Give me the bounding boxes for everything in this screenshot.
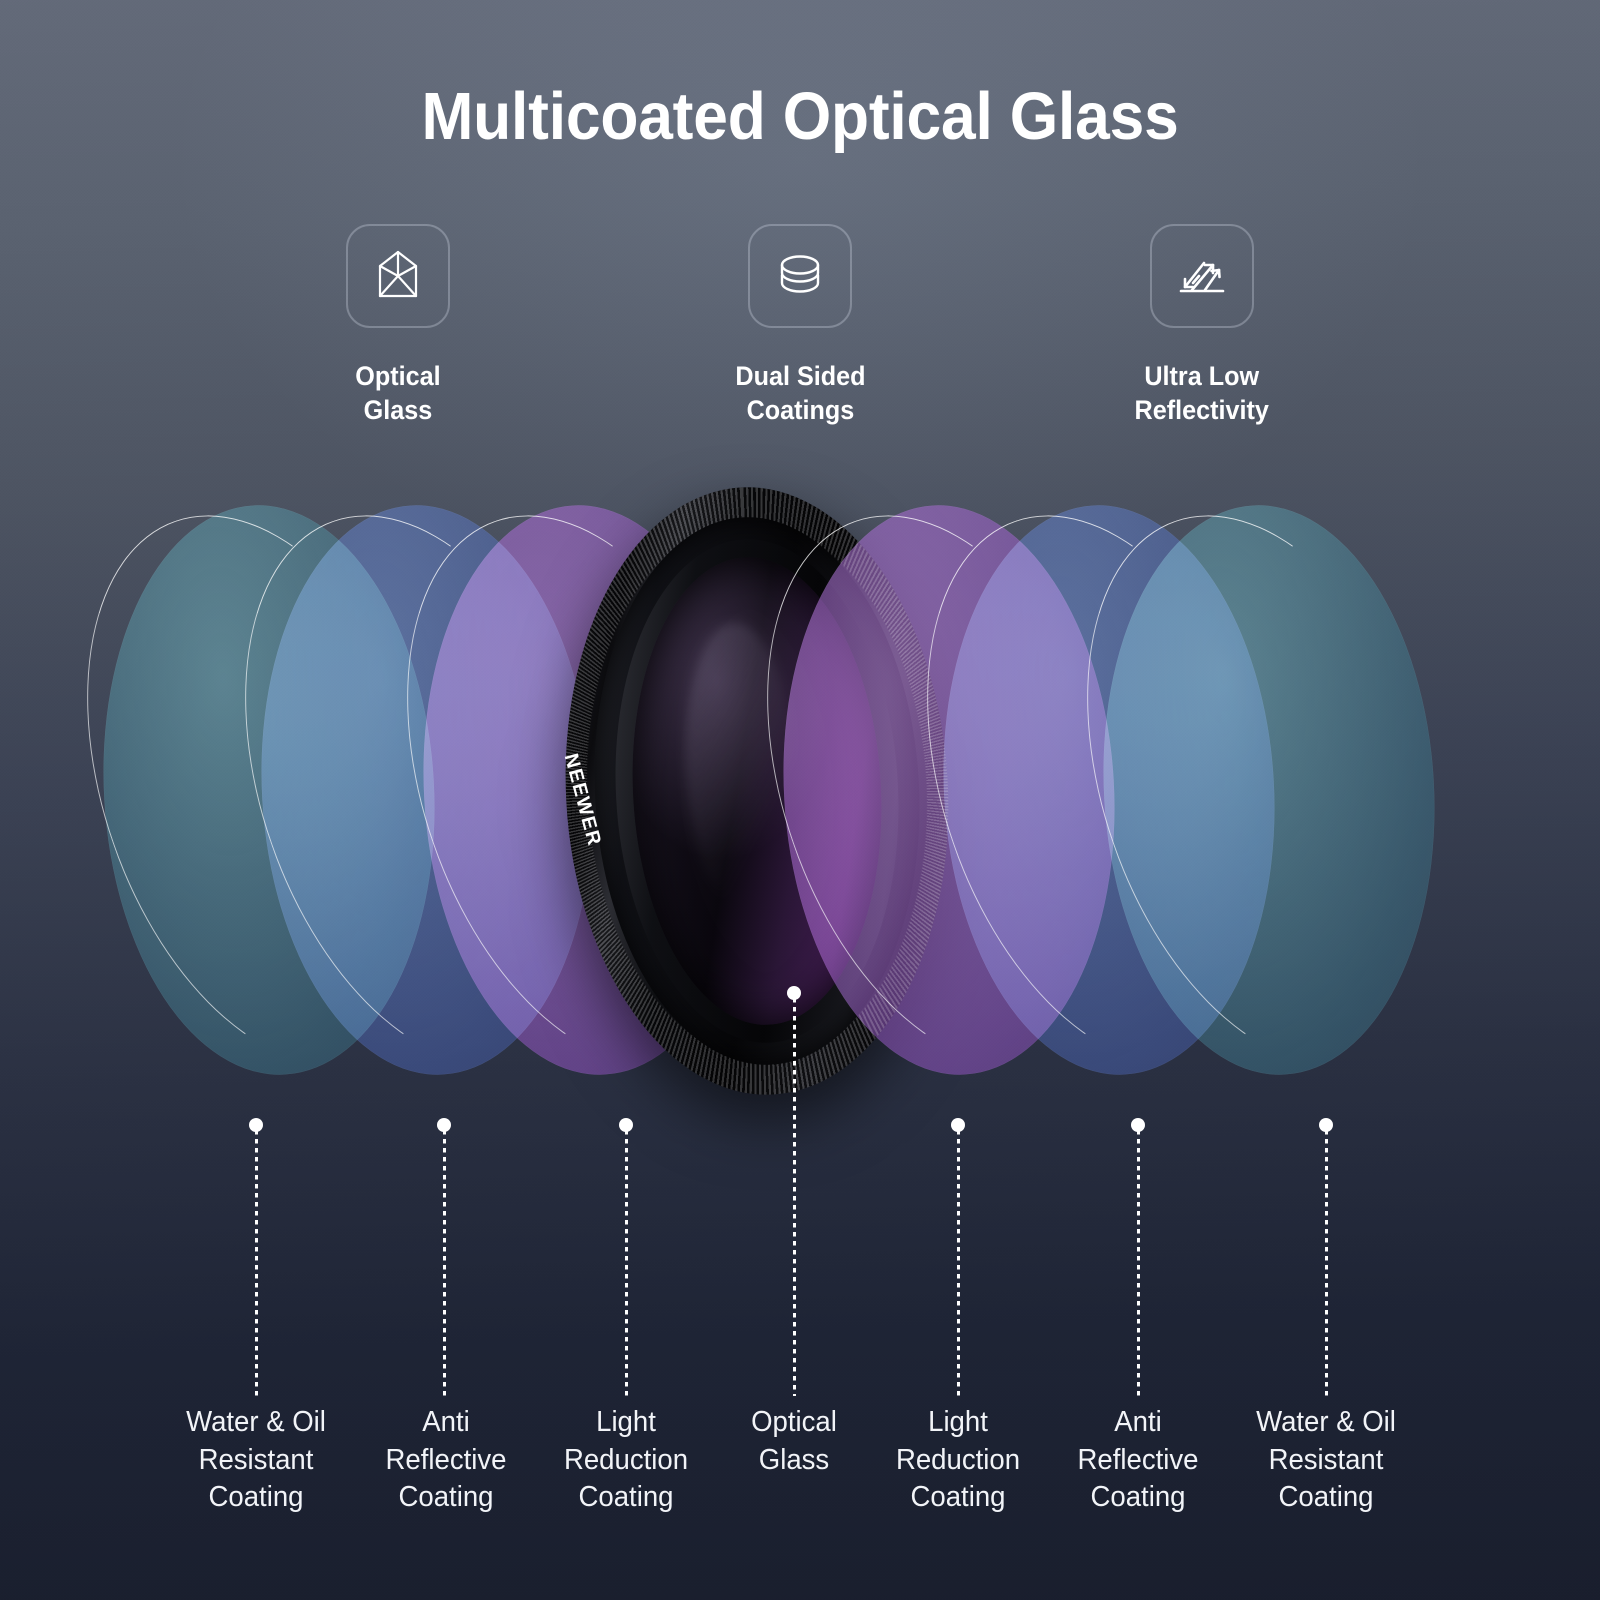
leader-stem [255, 1130, 258, 1396]
callout-label: Anti Reflective Coating [1034, 1404, 1243, 1517]
leader-stem [443, 1130, 446, 1396]
leader-stem [625, 1130, 628, 1396]
callout-label: Water & Oil Resistant Coating [1222, 1404, 1431, 1517]
leader-lines [0, 0, 1600, 1600]
leader-stem [1137, 1130, 1140, 1396]
leader-stem [793, 998, 796, 1396]
callout-label: Anti Reflective Coating [342, 1404, 551, 1517]
leader-stem [1325, 1130, 1328, 1396]
callout-label: Water & Oil Resistant Coating [152, 1404, 361, 1517]
callout-label: Light Reduction Coating [854, 1404, 1063, 1517]
leader-stem [957, 1130, 960, 1396]
